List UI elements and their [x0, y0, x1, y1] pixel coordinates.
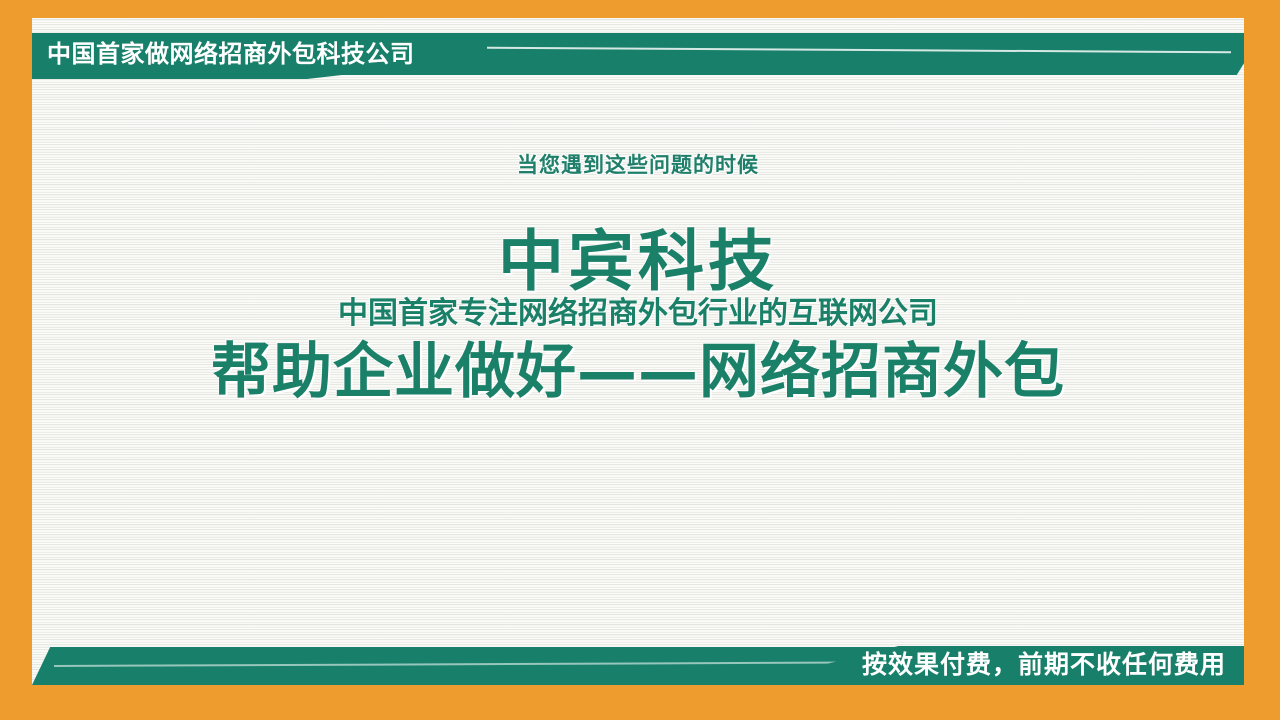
slide-content: 当您遇到这些问题的时候 中宾科技 中国首家专注网络招商外包行业的互联网公司 帮助…	[32, 150, 1244, 408]
slide-root: 中国首家做网络招商外包科技公司 当您遇到这些问题的时候 中宾科技 中国首家专注网…	[0, 0, 1280, 720]
content-brand-name: 中宾科技	[32, 226, 1244, 298]
bottom-banner-text: 按效果付费，前期不收任何费用	[862, 648, 1226, 682]
bottom-banner: 按效果付费，前期不收任何费用	[32, 645, 1244, 685]
top-banner-title: 中国首家做网络招商外包科技公司	[47, 37, 415, 71]
top-banner: 中国首家做网络招商外包科技公司	[32, 33, 1244, 75]
content-eyebrow: 当您遇到这些问题的时候	[32, 150, 1244, 180]
content-subtitle: 中国首家专注网络招商外包行业的互联网公司	[32, 294, 1244, 334]
content-headline: 帮助企业做好——网络招商外包	[32, 336, 1244, 408]
